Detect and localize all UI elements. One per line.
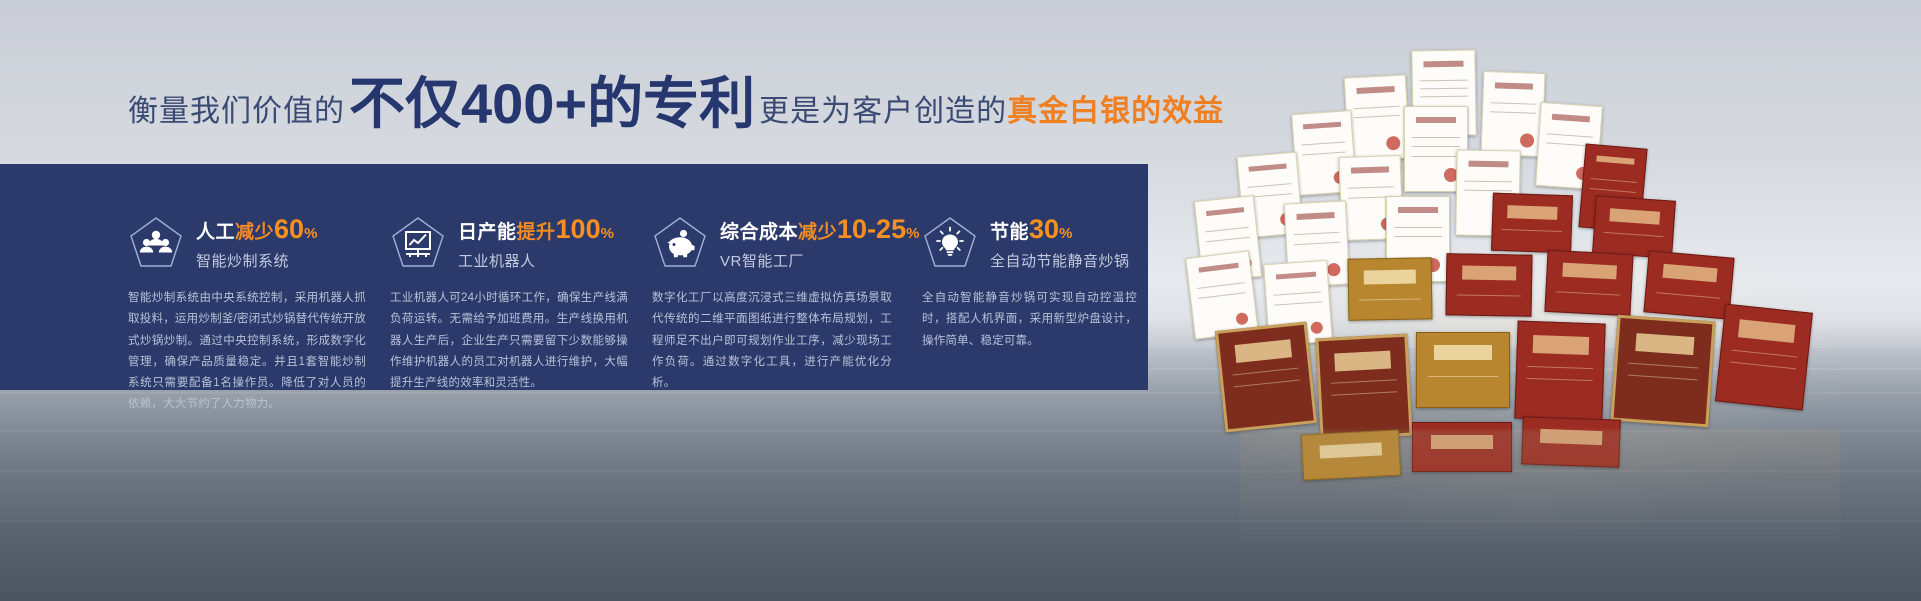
headline-emphasis: 不仅400+的专利 bbox=[349, 76, 755, 132]
feature-title-prefix: 日产能 bbox=[458, 222, 517, 243]
feature-description: 数字化工厂以高度沉浸式三维虚拟仿真场景取代传统的二维平面图纸进行整体布局规划，工… bbox=[652, 288, 892, 394]
feature-description: 工业机器人可24小时循环工作，确保生产线满负荷运转。无需给予加班费用。生产线换用… bbox=[390, 288, 628, 394]
feature-title-number: 100 bbox=[556, 214, 601, 244]
chart-board-icon bbox=[390, 215, 446, 271]
feature-subtitle: 智能炒制系统 bbox=[196, 250, 317, 271]
people-group-icon bbox=[128, 215, 184, 271]
feature-title-number: 60 bbox=[274, 214, 304, 244]
feature-title-percent: % bbox=[906, 225, 919, 242]
feature-subtitle: 全自动节能静音炒锅 bbox=[990, 250, 1130, 271]
certificate-reflection bbox=[1240, 430, 1840, 550]
feature-text: 日产能提升100% 工业机器人 bbox=[458, 215, 614, 271]
certificate-item bbox=[1491, 193, 1573, 254]
feature-text: 综合成本减少10-25% VR智能工厂 bbox=[720, 215, 919, 271]
feature-title-action: 提升 bbox=[517, 222, 556, 243]
feature-item[interactable]: 日产能提升100% 工业机器人 工业机器人可24小时循环工作，确保生产线满负荷运… bbox=[390, 164, 640, 390]
award-plaque bbox=[1715, 304, 1813, 411]
feature-title-prefix: 节能 bbox=[990, 222, 1029, 243]
award-plaque bbox=[1514, 320, 1605, 421]
certificate-item bbox=[1643, 250, 1734, 319]
feature-title-number: 10-25 bbox=[837, 214, 906, 244]
certificate-item bbox=[1544, 250, 1633, 316]
feature-description: 全自动智能静音炒锅可实现自动控温控时，搭配人机界面，采用新型炉盘设计，操作简单、… bbox=[922, 288, 1137, 352]
certificate-item bbox=[1592, 195, 1676, 258]
feature-item[interactable]: 人工减少60% 智能炒制系统 智能炒制系统由中央系统控制，采用机器人抓取投料，运… bbox=[128, 164, 378, 390]
feature-title: 综合成本减少10-25% bbox=[720, 215, 919, 243]
banner-top-edge bbox=[0, 0, 1921, 6]
headline-lead: 衡量我们价值的 bbox=[128, 86, 345, 130]
feature-header: 人工减少60% 智能炒制系统 bbox=[128, 212, 378, 274]
feature-item[interactable]: 综合成本减少10-25% VR智能工厂 数字化工厂以高度沉浸式三维虚拟仿真场景取… bbox=[652, 164, 914, 390]
piggy-bank-icon bbox=[652, 215, 708, 271]
certificate-award-pyramid bbox=[1190, 46, 1890, 466]
certificate-item bbox=[1347, 257, 1432, 320]
feature-title: 人工减少60% bbox=[196, 215, 317, 243]
feature-header: 综合成本减少10-25% VR智能工厂 bbox=[652, 212, 914, 274]
certificate-item bbox=[1185, 250, 1259, 339]
feature-title-action: 减少 bbox=[798, 222, 837, 243]
feature-title-action: 减少 bbox=[235, 222, 274, 243]
feature-title-percent: % bbox=[304, 225, 317, 242]
feature-title-number: 30 bbox=[1029, 214, 1059, 244]
feature-title: 节能30% bbox=[990, 215, 1130, 243]
feature-list: 人工减少60% 智能炒制系统 智能炒制系统由中央系统控制，采用机器人抓取投料，运… bbox=[0, 164, 1148, 390]
feature-title-percent: % bbox=[601, 225, 614, 242]
headline: 衡量我们价值的 不仅400+的专利 更是为客户创造的 真金白银的效益 bbox=[128, 74, 1224, 138]
feature-title-prefix: 人工 bbox=[196, 222, 235, 243]
hero-banner: 衡量我们价值的 不仅400+的专利 更是为客户创造的 真金白银的效益 bbox=[0, 0, 1921, 601]
feature-subtitle: 工业机器人 bbox=[458, 250, 614, 271]
award-plaque bbox=[1416, 332, 1510, 408]
feature-description: 智能炒制系统由中央系统控制，采用机器人抓取投料，运用炒制釜/密闭式炒锅替代传统开… bbox=[128, 288, 366, 416]
feature-text: 节能30% 全自动节能静音炒锅 bbox=[990, 215, 1130, 271]
certificate-item bbox=[1481, 71, 1546, 157]
award-plaque bbox=[1610, 315, 1715, 428]
feature-header: 节能30% 全自动节能静音炒锅 bbox=[922, 212, 1148, 274]
award-plaque bbox=[1315, 334, 1412, 441]
feature-subtitle: VR智能工厂 bbox=[720, 250, 919, 271]
certificate-item bbox=[1445, 253, 1532, 316]
feature-title-prefix: 综合成本 bbox=[720, 222, 798, 243]
headline-middle: 更是为客户创造的 bbox=[759, 86, 1007, 130]
lightbulb-icon bbox=[922, 215, 978, 271]
feature-header: 日产能提升100% 工业机器人 bbox=[390, 212, 640, 274]
feature-text: 人工减少60% 智能炒制系统 bbox=[196, 215, 317, 271]
award-plaque bbox=[1215, 321, 1317, 432]
feature-title-percent: % bbox=[1059, 225, 1072, 242]
feature-title: 日产能提升100% bbox=[458, 215, 614, 243]
feature-item[interactable]: 节能30% 全自动节能静音炒锅 全自动智能静音炒锅可实现自动控温控时，搭配人机界… bbox=[922, 164, 1148, 390]
